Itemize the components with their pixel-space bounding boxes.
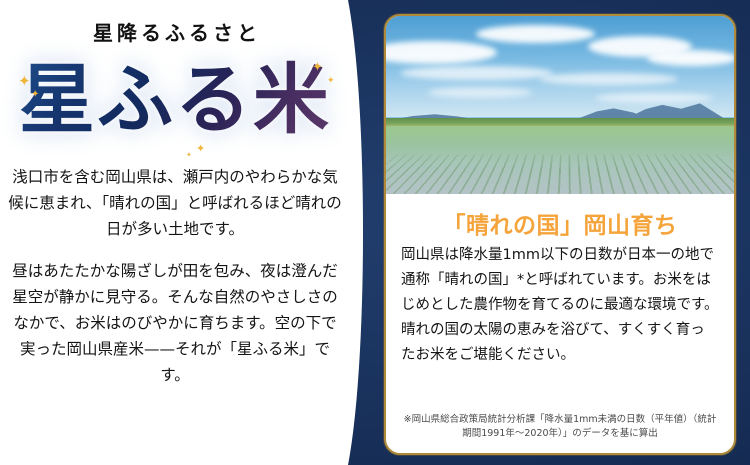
- left-content-column: 星降るふるさと 星ふる米 ✦ ✦ ✦ ✦ ✦ ✦ 浅口市を含む岡山県は、瀬戸内の…: [0, 0, 350, 465]
- card-title: 「晴れの国」岡山育ち: [401, 206, 719, 240]
- cloud-shape: [400, 66, 553, 80]
- info-card: 「晴れの国」岡山育ち 岡山県は降水量1mm以下の日数が日本一の地で通称「晴れの国…: [384, 14, 736, 455]
- rice-paddy-photo: [386, 16, 734, 194]
- water-reflection: [386, 126, 734, 194]
- intro-paragraph-story: 昼はあたたかな陽ざしが田を包み、夜は澄んだ星空が静かに見守る。そんな自然のやさし…: [0, 258, 350, 388]
- poster-canvas: 星降るふるさと 星ふる米 ✦ ✦ ✦ ✦ ✦ ✦ 浅口市を含む岡山県は、瀬戸内の…: [0, 0, 750, 465]
- cloud-shape: [428, 87, 532, 98]
- card-body: 「晴れの国」岡山育ち 岡山県は降水量1mm以下の日数が日本一の地で通称「晴れの国…: [386, 194, 734, 453]
- cloud-shape: [595, 93, 713, 104]
- cloud-shape: [647, 50, 734, 66]
- card-description: 岡山県は降水量1mm以下の日数が日本一の地で通称「晴れの国」*と呼ばれています。…: [401, 243, 719, 368]
- sparkle-icon: ✦: [186, 152, 192, 159]
- eyebrow-tagline: 星降るふるさと: [0, 17, 350, 46]
- intro-paragraph-climate: 浅口市を含む岡山県は、瀬戸内のやわらかな気候に恵まれ、「晴れの国」と呼ばれるほど…: [0, 164, 350, 242]
- brand-logo-row: 星ふる米 ✦ ✦ ✦ ✦ ✦ ✦: [0, 48, 350, 156]
- cloud-shape: [476, 25, 594, 43]
- brand-logo-text: 星ふる米: [19, 48, 331, 152]
- card-footnote: ※岡山県総合政策局統計分析課「降水量1mm未満の日数（平年値）（統計期間1991…: [401, 413, 719, 441]
